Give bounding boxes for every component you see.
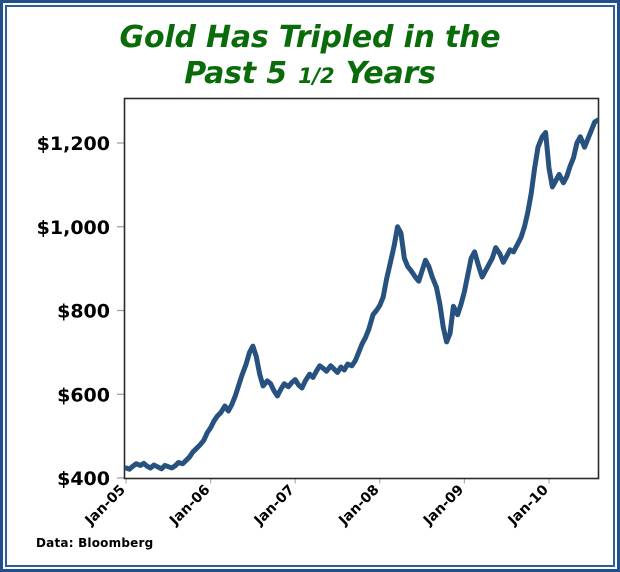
x-axis-tick-label: Jan-09 (420, 482, 467, 529)
plot-area-border (125, 99, 599, 479)
source-note: Data: Bloomberg (36, 536, 153, 550)
y-axis-tick-label: $1,200 (37, 133, 110, 155)
gold-price-line-chart: $1,200$1,000$800$600$400 Jan-05Jan-06Jan… (0, 0, 620, 572)
y-axis-tick-labels: $1,200$1,000$800$600$400 (37, 133, 110, 490)
x-axis-tick-label: Jan-07 (251, 482, 298, 529)
y-axis-tick-label: $400 (57, 468, 110, 490)
y-axis-tick-label: $600 (57, 384, 110, 406)
chart-plot-container: $1,200$1,000$800$600$400 Jan-05Jan-06Jan… (0, 0, 620, 572)
x-axis-tick-label: Jan-08 (335, 482, 382, 529)
x-axis-tick-label: Jan-10 (505, 482, 552, 529)
y-axis-tick-marks (117, 143, 125, 478)
y-axis-tick-label: $800 (57, 301, 110, 323)
chart-image-root: Gold Has Tripled in thePast 5 1/2 Years … (0, 0, 620, 572)
x-axis-tick-labels: Jan-05Jan-06Jan-07Jan-08Jan-09Jan-10 (82, 482, 552, 529)
y-axis-tick-label: $1,000 (37, 217, 110, 239)
x-axis-tick-label: Jan-06 (166, 482, 213, 529)
